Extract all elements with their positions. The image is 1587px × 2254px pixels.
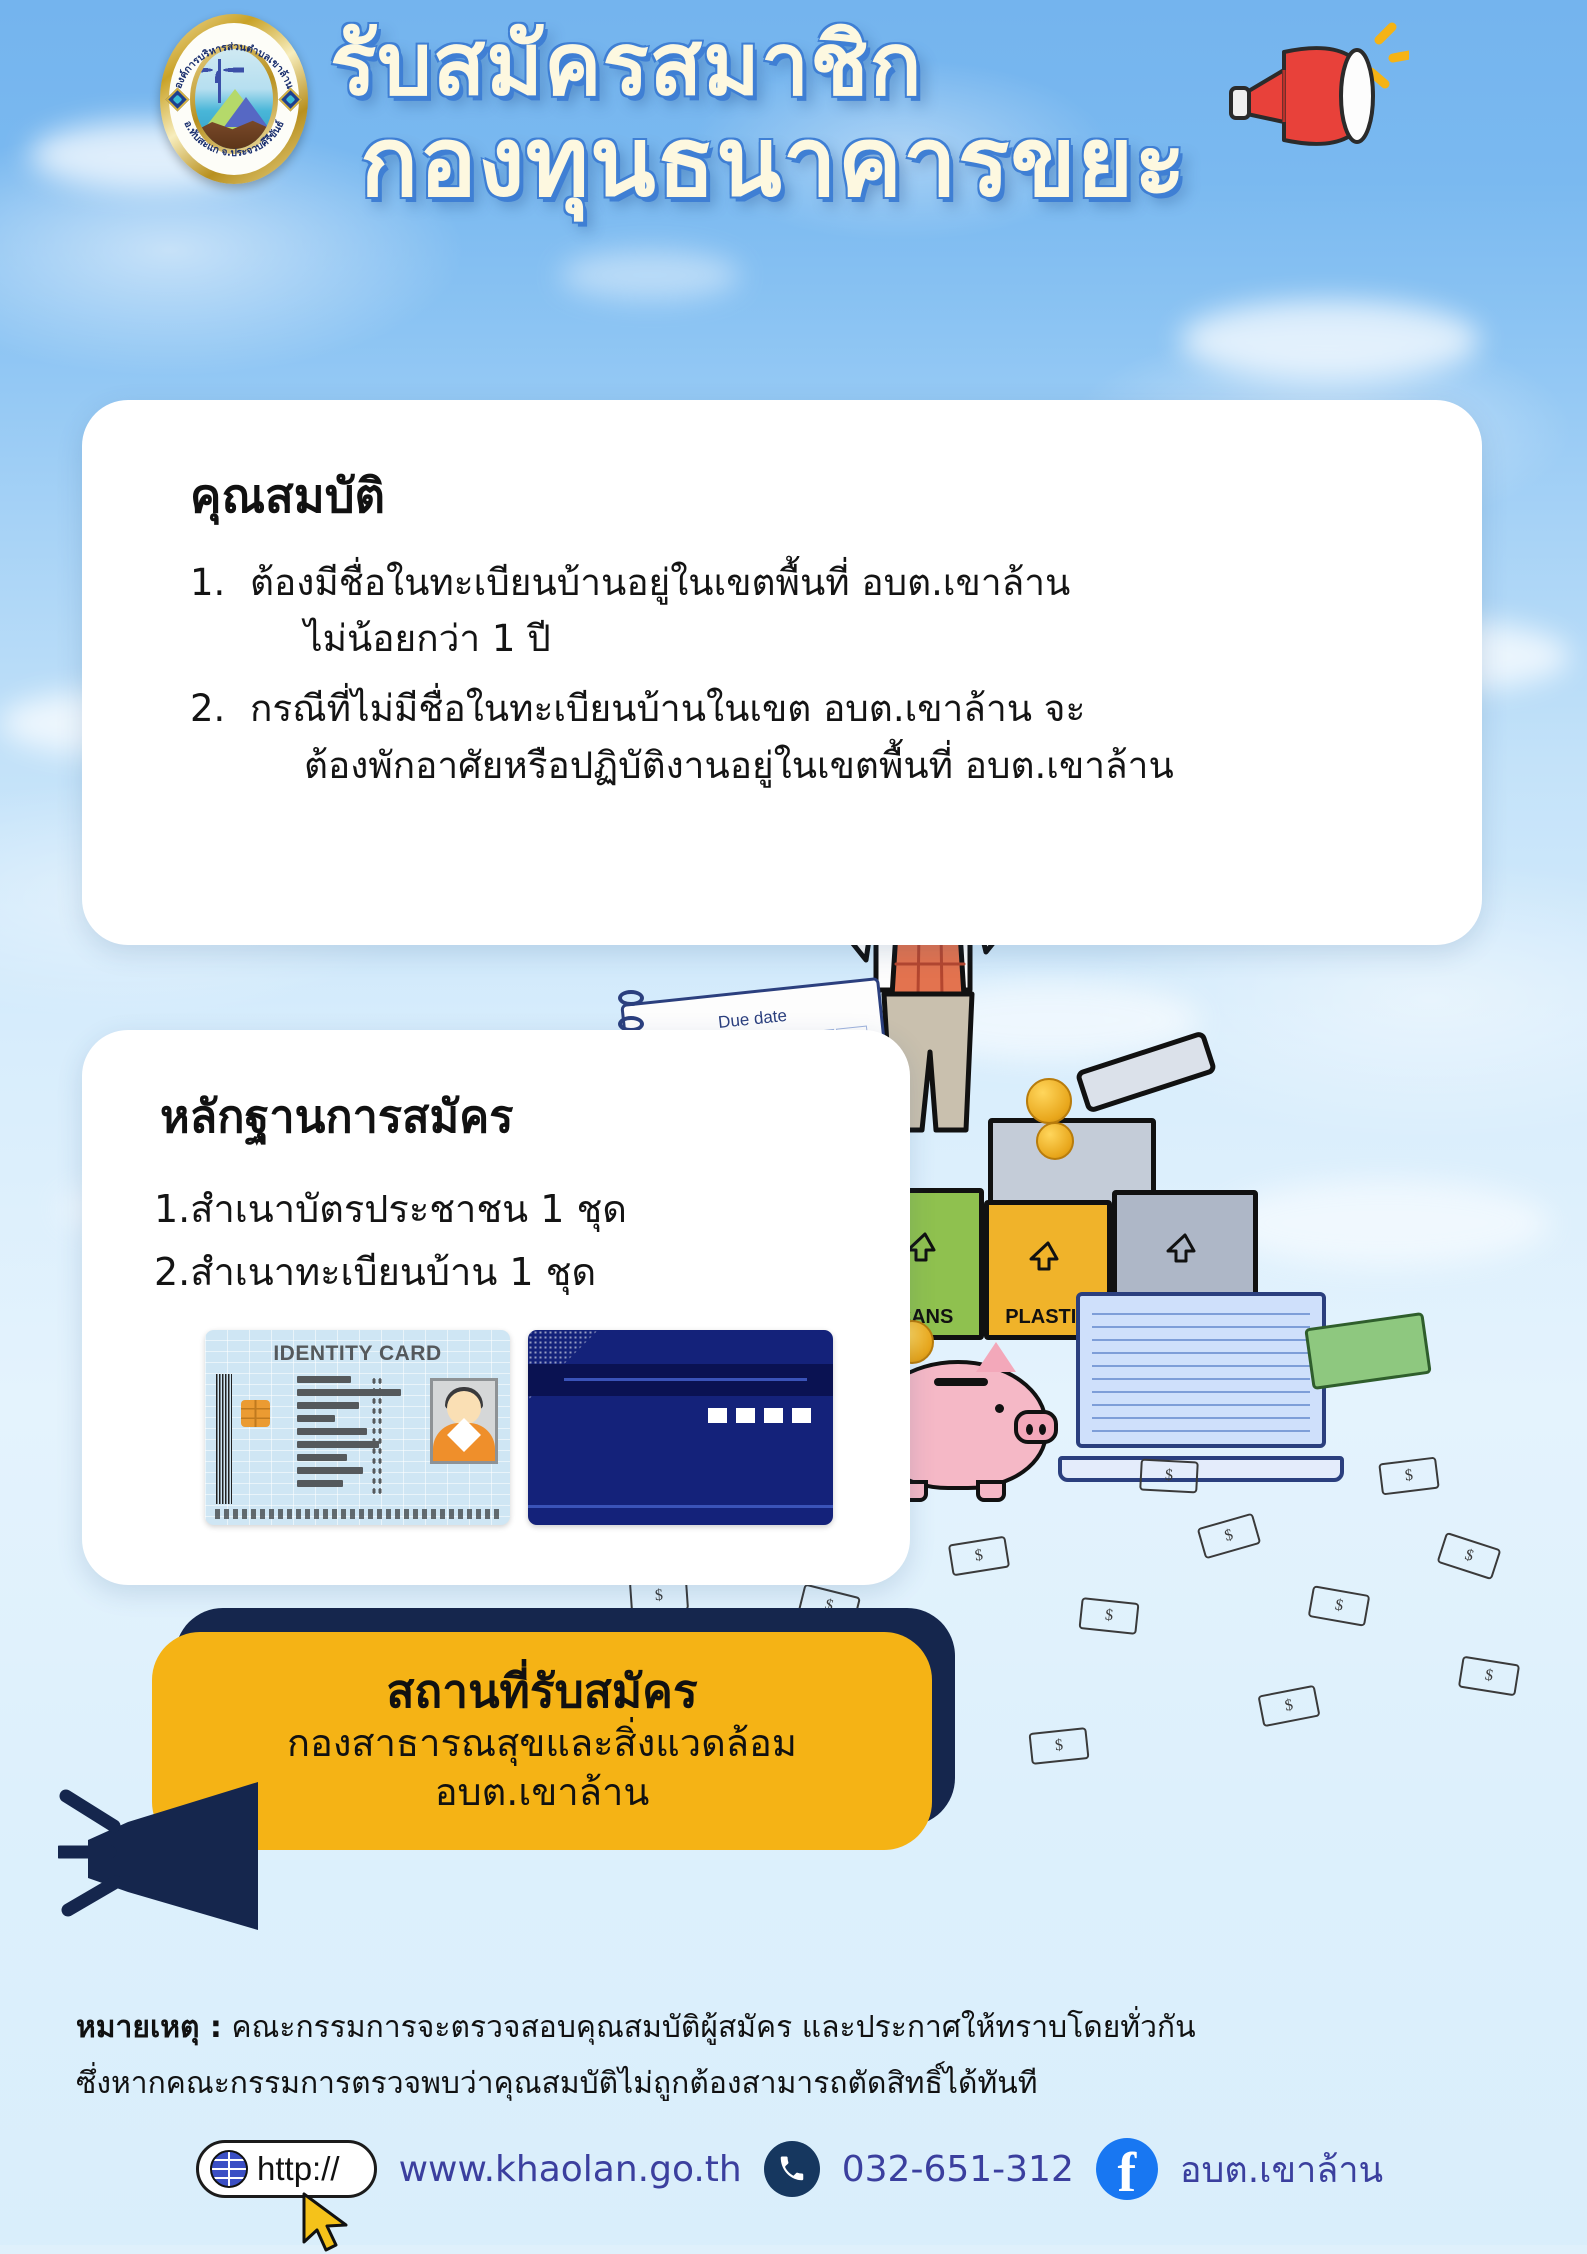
banknote-icon: [1378, 1457, 1439, 1496]
card-footer-line: [528, 1505, 833, 1508]
qualification-text-line-1: ต้องมีชื่อในทะเบียนบ้านอยู่ในเขตพื้นที่ …: [250, 561, 1070, 604]
id-card-title: IDENTITY CARD: [205, 1342, 510, 1366]
globe-icon: [210, 2150, 248, 2188]
website-url[interactable]: www.khaolan.go.th: [399, 2149, 742, 2190]
seal-arc-text: องค์การบริหารส่วนตำบลเขาล้าน อ.ทับสะแก จ…: [160, 14, 308, 184]
document-item: 2.สำเนาทะเบียนบ้าน 1 ชุด: [154, 1241, 910, 1304]
recycle-icon: [1025, 1239, 1071, 1281]
piggy-coin-slot: [934, 1378, 988, 1386]
phone-icon: [764, 2141, 820, 2197]
banknote-icon: [1197, 1513, 1262, 1560]
coin-icon: [1036, 1122, 1074, 1160]
qualifications-list: 1. ต้องมีชื่อในทะเบียนบ้านอยู่ในเขตพื้นท…: [190, 555, 1482, 794]
qualification-number: 1.: [190, 555, 250, 667]
note-line-2: ซึ่งหากคณะกรรมการตรวจพบว่าคุณสมบัติไม่ถู…: [76, 2056, 1516, 2112]
identity-card-illustration: IDENTITY CARD: [205, 1330, 510, 1525]
qualification-body: กรณีที่ไม่มีชื่อในทะเบียนบ้านในเขต อบต.เ…: [250, 681, 1174, 793]
banknote-icon: [948, 1536, 1010, 1577]
facebook-page-name[interactable]: อบต.เขาล้าน: [1180, 2141, 1383, 2198]
qualifications-card: คุณสมบัติ 1. ต้องมีชื่อในทะเบียนบ้านอยู่…: [82, 400, 1482, 945]
website-pill[interactable]: http://: [196, 2140, 377, 2198]
bin-lid: [1075, 1030, 1218, 1114]
banknote-icon: [1078, 1597, 1139, 1635]
cloud-decoration: [560, 250, 740, 300]
phone-number[interactable]: 032-651-312: [842, 2149, 1074, 2190]
qualification-text-line-2: ไม่น้อยกว่า 1 ปี: [250, 611, 1070, 667]
card-number-blocks: [708, 1408, 811, 1423]
banknote-icon: [1028, 1727, 1089, 1765]
document-item: 1.สำเนาบัตรประชาชน 1 ชุด: [154, 1178, 910, 1241]
qualification-item: 2. กรณีที่ไม่มีชื่อในทะเบียนบ้านในเขต อบ…: [190, 681, 1482, 793]
piggy-leg: [976, 1480, 1006, 1502]
cloud-decoration: [1180, 300, 1480, 380]
documents-list: 1.สำเนาบัตรประชาชน 1 ชุด 2.สำเนาทะเบียนบ…: [154, 1178, 910, 1303]
protocol-label: http://: [257, 2150, 340, 2188]
facebook-icon[interactable]: f: [1096, 2138, 1158, 2200]
barcode-icon: [216, 1374, 232, 1504]
id-card-photo: [430, 1378, 498, 1464]
contact-bar: http:// www.khaolan.go.th 032-651-312 f …: [196, 2138, 1383, 2200]
laptop-base: [1058, 1456, 1344, 1482]
svg-text:องค์การบริหารส่วนตำบลเขาล้าน: องค์การบริหารส่วนตำบลเขาล้าน: [173, 41, 295, 91]
qualifications-title: คุณสมบัติ: [190, 458, 1482, 533]
footer-notes: หมายเหตุ : คณะกรรมการจะตรวจสอบคุณสมบัติผ…: [76, 2000, 1516, 2111]
id-card-dot-pattern: [371, 1376, 383, 1496]
piggy-snout: [1014, 1410, 1058, 1444]
qualification-text-line-2: ต้องพักอาศัยหรือปฏิบัติงานอยู่ในเขตพื้นท…: [250, 738, 1174, 794]
megaphone-icon: [1229, 22, 1409, 172]
id-card-text-lines: [297, 1376, 401, 1493]
banner-department: กองสาธารณสุขและสิ่งแวดล้อม: [287, 1719, 797, 1768]
id-card-mrz-strip: [215, 1509, 500, 1519]
megaphone-icon: [58, 1780, 273, 1945]
banknote-icon: [1308, 1585, 1371, 1627]
piggy-ear: [976, 1342, 1016, 1372]
coin-icon: [1026, 1078, 1072, 1124]
documents-title: หลักฐานการสมัคร: [160, 1080, 910, 1152]
banknote-icon: [1458, 1656, 1520, 1697]
poster-background: องค์การบริหารส่วนตำบลเขาล้าน อ.ทับสะแก จ…: [0, 0, 1587, 2245]
banknote-icon: [1257, 1685, 1320, 1727]
laptop-illustration: [1076, 1292, 1326, 1482]
house-registration-illustration: [528, 1330, 833, 1525]
banknote-icon: [1436, 1532, 1501, 1580]
note-line-1: หมายเหตุ : คณะกรรมการจะตรวจสอบคุณสมบัติผ…: [76, 2000, 1516, 2056]
seal-bottom-text: อ.ทับสะแก จ.ประจวบคีรีขันธ์: [181, 119, 286, 159]
banner-office: อบต.เขาล้าน: [435, 1768, 650, 1817]
banknote-icon: [1139, 1459, 1199, 1494]
note-text-1: คณะกรรมการจะตรวจสอบคุณสมบัติผู้สมัคร และ…: [231, 2010, 1195, 2045]
organization-seal: องค์การบริหารส่วนตำบลเขาล้าน อ.ทับสะแก จ…: [160, 14, 308, 184]
piggy-eye: [995, 1404, 1004, 1413]
phone-glyph: [777, 2154, 807, 2184]
laptop-screen: [1076, 1292, 1326, 1448]
recycling-illustration: Due date 1234567 891011121314 1516171819…: [840, 900, 1560, 2020]
qualification-number: 2.: [190, 681, 250, 793]
qualification-text-line-1: กรณีที่ไม่มีชื่อในทะเบียนบ้านในเขต อบต.เ…: [250, 687, 1085, 730]
facebook-glyph: f: [1118, 2147, 1137, 2200]
chip-icon: [241, 1400, 270, 1427]
note-label: หมายเหตุ :: [76, 2010, 222, 2045]
qualification-item: 1. ต้องมีชื่อในทะเบียนบ้านอยู่ในเขตพื้นท…: [190, 555, 1482, 667]
recycle-icon: [1162, 1231, 1208, 1273]
seal-top-text: องค์การบริหารส่วนตำบลเขาล้าน: [173, 41, 295, 91]
svg-text:อ.ทับสะแก จ.ประจวบคีรีขันธ์: อ.ทับสะแก จ.ประจวบคีรีขันธ์: [181, 119, 286, 159]
qualification-body: ต้องมีชื่อในทะเบียนบ้านอยู่ในเขตพื้นที่ …: [250, 555, 1070, 667]
card-line: [564, 1378, 807, 1381]
banner-title: สถานที่รับสมัคร: [386, 1664, 697, 1718]
